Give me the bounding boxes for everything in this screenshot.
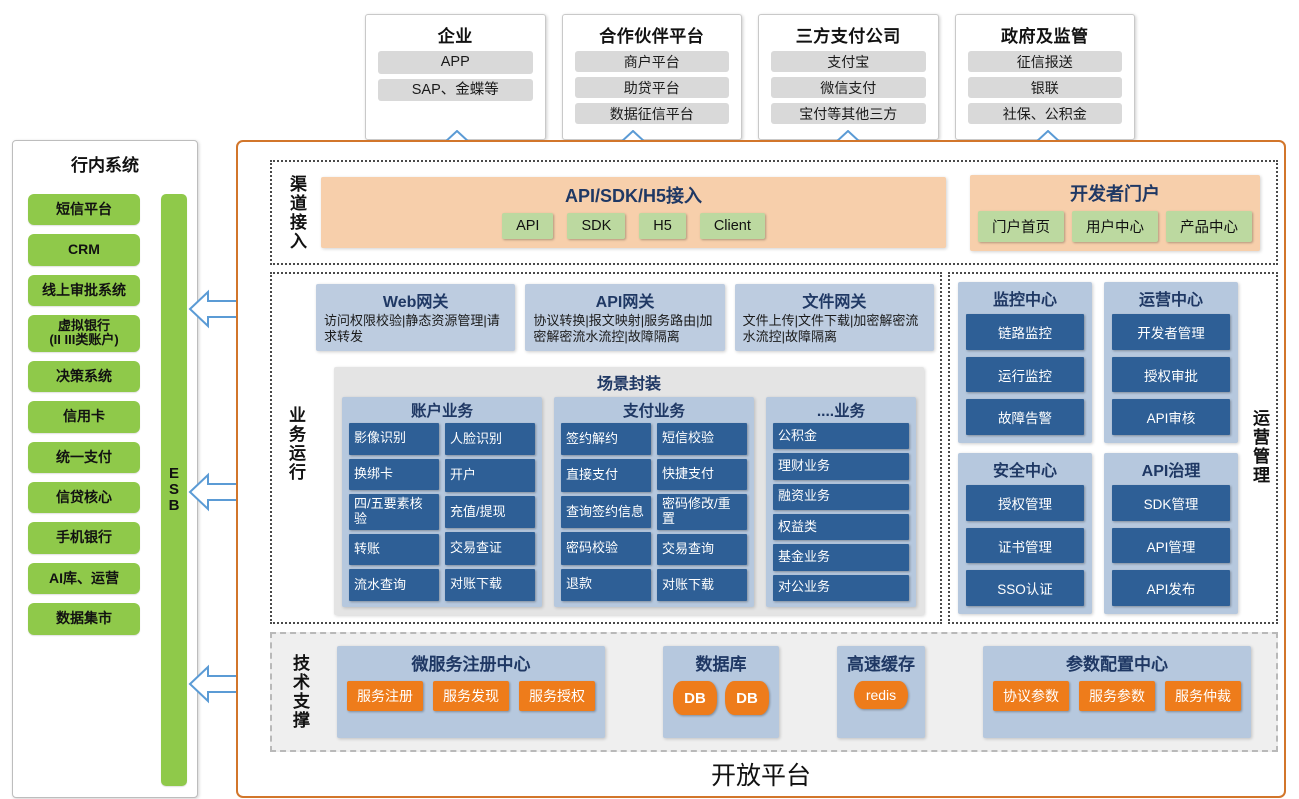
external-system-title: 企业 xyxy=(438,22,473,47)
business-chip[interactable]: 密码校验 xyxy=(561,532,651,564)
channel-chip[interactable]: Client xyxy=(700,213,765,239)
external-system-items: 征信报送银联社保、公积金 xyxy=(968,51,1123,124)
external-system-box: 政府及监管征信报送银联社保、公积金 xyxy=(955,14,1136,140)
internal-system-item[interactable]: 短信平台 xyxy=(28,194,140,225)
business-chip[interactable]: 人脸识别 xyxy=(445,423,535,455)
gateway-row: Web网关访问权限校验|静态资源管理|请求转发API网关协议转换|报文映射|服务… xyxy=(316,284,934,351)
operation-card-title: API治理 xyxy=(1112,457,1230,481)
business-column-title: ....业务 xyxy=(773,399,909,421)
technical-card-title: 微服务注册中心 xyxy=(412,650,531,675)
scene-encapsulation-title: 场景封装 xyxy=(342,370,916,394)
esb-letter: B xyxy=(169,498,180,514)
gateway-title: Web网关 xyxy=(383,288,449,312)
operation-chip[interactable]: 证书管理 xyxy=(966,528,1084,564)
external-system-box: 企业APPSAP、金蝶等 xyxy=(365,14,546,140)
external-system-title: 合作伙伴平台 xyxy=(599,22,704,47)
external-system-item[interactable]: 银联 xyxy=(968,77,1123,98)
business-chip[interactable]: 换绑卡 xyxy=(349,459,439,491)
business-column-grid: 影像识别换绑卡四/五要素核验转账流水查询人脸识别开户充值/提现交易查证对账下载 xyxy=(349,423,535,601)
business-chip[interactable]: 融资业务 xyxy=(773,484,909,510)
portal-chip[interactable]: 产品中心 xyxy=(1166,211,1252,242)
internal-systems-list: 短信平台CRM线上审批系统虚拟银行(II III类账户)决策系统信用卡统一支付信… xyxy=(28,194,140,635)
external-system-item[interactable]: 社保、公积金 xyxy=(968,103,1123,124)
technical-card: 参数配置中心协议参数服务参数服务仲裁 xyxy=(983,646,1251,738)
external-system-items: APPSAP、金蝶等 xyxy=(378,51,533,101)
external-system-item[interactable]: 微信支付 xyxy=(771,77,926,98)
operation-chip[interactable]: API管理 xyxy=(1112,528,1230,564)
business-run-band: 业务运行 Web网关访问权限校验|静态资源管理|请求转发API网关协议转换|报文… xyxy=(270,272,942,624)
business-chip[interactable]: 查询签约信息 xyxy=(561,496,651,528)
operation-cards-grid: 监控中心链路监控运行监控故障告警运营中心开发者管理授权审批API审核安全中心授权… xyxy=(958,282,1238,614)
internal-systems-panel: 行内系统 短信平台CRM线上审批系统虚拟银行(II III类账户)决策系统信用卡… xyxy=(12,140,198,798)
business-chip[interactable]: 密码修改/重置 xyxy=(657,494,747,530)
database-pill[interactable]: DB xyxy=(725,681,769,715)
gateway-title: API网关 xyxy=(596,288,655,312)
operation-card-title: 安全中心 xyxy=(966,457,1084,481)
platform-title: 开放平台 xyxy=(238,756,1284,792)
external-system-item[interactable]: 商户平台 xyxy=(575,51,730,72)
scene-encapsulation-card: 场景封装 账户业务影像识别换绑卡四/五要素核验转账流水查询人脸识别开户充值/提现… xyxy=(334,367,924,615)
business-chip[interactable]: 转账 xyxy=(349,534,439,566)
technical-chip[interactable]: 服务参数 xyxy=(1079,681,1155,711)
operation-management-label: 运营管理 xyxy=(1242,379,1272,514)
internal-systems-title: 行内系统 xyxy=(13,151,197,176)
business-chip[interactable]: 直接支付 xyxy=(561,459,651,491)
technical-card: 微服务注册中心服务注册服务发现服务授权 xyxy=(337,646,605,738)
business-column-grid: 签约解约直接支付查询签约信息密码校验退款短信校验快捷支付密码修改/重置交易查询对… xyxy=(561,423,747,601)
operation-card-items: SDK管理API管理API发布 xyxy=(1112,485,1230,606)
business-chip[interactable]: 对账下载 xyxy=(445,569,535,601)
external-system-item[interactable]: 数据征信平台 xyxy=(575,103,730,124)
api-sdk-h5-title: API/SDK/H5接入 xyxy=(565,182,702,208)
external-system-items: 支付宝微信支付宝付等其他三方 xyxy=(771,51,926,124)
business-column-title: 支付业务 xyxy=(561,399,747,421)
operation-chip[interactable]: 运行监控 xyxy=(966,357,1084,393)
channel-access-label: 渠道接入 xyxy=(277,175,309,251)
external-system-title: 政府及监管 xyxy=(1001,22,1089,47)
business-chip[interactable]: 公积金 xyxy=(773,423,909,449)
technical-card-items: redis xyxy=(854,681,908,709)
gateway-description: 文件上传|文件下载|加密解密流水流控|故障隔离 xyxy=(743,313,926,344)
operation-card-items: 链路监控运行监控故障告警 xyxy=(966,314,1084,435)
external-system-title: 三方支付公司 xyxy=(796,22,901,47)
business-subcolumn: 人脸识别开户充值/提现交易查证对账下载 xyxy=(445,423,535,601)
channel-chip[interactable]: API xyxy=(502,213,553,239)
internal-system-item[interactable]: 手机银行 xyxy=(28,522,140,553)
technical-support-label: 技术支撑 xyxy=(282,654,312,730)
business-chip[interactable]: 退款 xyxy=(561,569,651,601)
business-chip[interactable]: 对账下载 xyxy=(657,569,747,601)
gateway-card[interactable]: API网关协议转换|报文映射|服务路由|加密解密流水流控|故障隔离 xyxy=(525,284,724,351)
operation-card-items: 开发者管理授权审批API审核 xyxy=(1112,314,1230,435)
internal-system-item[interactable]: 决策系统 xyxy=(28,361,140,392)
operation-management-band: 监控中心链路监控运行监控故障告警运营中心开发者管理授权审批API审核安全中心授权… xyxy=(948,272,1278,624)
operation-chip[interactable]: API审核 xyxy=(1112,399,1230,435)
technical-card: 数据库DBDB xyxy=(663,646,779,738)
business-chip[interactable]: 充值/提现 xyxy=(445,496,535,528)
gateway-description: 访问权限校验|静态资源管理|请求转发 xyxy=(324,313,507,344)
business-subcolumn: 短信校验快捷支付密码修改/重置交易查询对账下载 xyxy=(657,423,747,601)
business-chip[interactable]: 流水查询 xyxy=(349,569,439,601)
external-system-item[interactable]: 宝付等其他三方 xyxy=(771,103,926,124)
technical-card-title: 高速缓存 xyxy=(847,650,915,675)
technical-support-band: 技术支撑 微服务注册中心服务注册服务发现服务授权数据库DBDB高速缓存redis… xyxy=(270,632,1278,752)
internal-system-item[interactable]: 信用卡 xyxy=(28,401,140,432)
operation-chip[interactable]: API发布 xyxy=(1112,570,1230,606)
external-system-item[interactable]: 助贷平台 xyxy=(575,77,730,98)
operation-card-title: 运营中心 xyxy=(1112,286,1230,310)
business-subcolumn: 签约解约直接支付查询签约信息密码校验退款 xyxy=(561,423,651,601)
business-run-label: 业务运行 xyxy=(278,369,308,519)
business-column: 账户业务影像识别换绑卡四/五要素核验转账流水查询人脸识别开户充值/提现交易查证对… xyxy=(342,397,542,607)
business-chip[interactable]: 影像识别 xyxy=(349,423,439,455)
business-column: 支付业务签约解约直接支付查询签约信息密码校验退款短信校验快捷支付密码修改/重置交… xyxy=(554,397,754,607)
business-chip[interactable]: 签约解约 xyxy=(561,423,651,455)
business-chip[interactable]: 短信校验 xyxy=(657,423,747,455)
business-chip[interactable]: 理财业务 xyxy=(773,453,909,479)
channel-access-band: 渠道接入 API/SDK/H5接入 APISDKH5Client 开发者门户 门… xyxy=(270,160,1278,265)
technical-card-items: 服务注册服务发现服务授权 xyxy=(347,681,595,711)
external-system-item[interactable]: APP xyxy=(378,51,533,74)
portal-chip[interactable]: 门户首页 xyxy=(978,211,1064,242)
business-chip[interactable]: 权益类 xyxy=(773,514,909,540)
business-chip[interactable]: 交易查询 xyxy=(657,534,747,566)
technical-card-items: 协议参数服务参数服务仲裁 xyxy=(993,681,1241,711)
developer-portal-title: 开发者门户 xyxy=(1070,180,1160,206)
external-system-box: 合作伙伴平台商户平台助贷平台数据征信平台 xyxy=(562,14,743,140)
operation-card-items: 授权管理证书管理SSO认证 xyxy=(966,485,1084,606)
redis-pill[interactable]: redis xyxy=(854,681,908,709)
database-pill[interactable]: DB xyxy=(673,681,717,715)
developer-portal-card: 开发者门户 门户首页用户中心产品中心 xyxy=(970,175,1260,251)
technical-chip[interactable]: 服务注册 xyxy=(347,681,423,711)
operation-card: 监控中心链路监控运行监控故障告警 xyxy=(958,282,1092,443)
internal-system-item[interactable]: 信贷核心 xyxy=(28,482,140,513)
channel-chip[interactable]: SDK xyxy=(567,213,625,239)
external-system-item[interactable]: 征信报送 xyxy=(968,51,1123,72)
external-system-items: 商户平台助贷平台数据征信平台 xyxy=(575,51,730,124)
operation-chip[interactable]: 链路监控 xyxy=(966,314,1084,350)
business-subcolumn: 影像识别换绑卡四/五要素核验转账流水查询 xyxy=(349,423,439,601)
technical-chip[interactable]: 服务发现 xyxy=(433,681,509,711)
developer-portal-chips: 门户首页用户中心产品中心 xyxy=(978,211,1252,242)
business-column-grid: 公积金理财业务融资业务权益类基金业务对公业务 xyxy=(773,423,909,601)
operation-chip[interactable]: 授权管理 xyxy=(966,485,1084,521)
operation-card: 运营中心开发者管理授权审批API审核 xyxy=(1104,282,1238,443)
operation-chip[interactable]: SSO认证 xyxy=(966,570,1084,606)
business-chip[interactable]: 开户 xyxy=(445,459,535,491)
esb-bus: ESB xyxy=(161,194,187,786)
technical-chip[interactable]: 协议参数 xyxy=(993,681,1069,711)
esb-letter: S xyxy=(169,482,179,498)
internal-system-item[interactable]: 虚拟银行(II III类账户) xyxy=(28,315,140,352)
business-column-title: 账户业务 xyxy=(349,399,535,421)
technical-card-title: 参数配置中心 xyxy=(1066,650,1168,675)
technical-card-items: DBDB xyxy=(673,681,769,715)
technical-card-title: 数据库 xyxy=(696,650,747,675)
operation-chip[interactable]: 故障告警 xyxy=(966,399,1084,435)
external-system-item[interactable]: SAP、金蝶等 xyxy=(378,79,533,102)
business-chip[interactable]: 交易查证 xyxy=(445,532,535,564)
gateway-card[interactable]: 文件网关文件上传|文件下载|加密解密流水流控|故障隔离 xyxy=(735,284,934,351)
business-columns: 账户业务影像识别换绑卡四/五要素核验转账流水查询人脸识别开户充值/提现交易查证对… xyxy=(342,397,916,607)
gateway-title: 文件网关 xyxy=(802,288,866,312)
operation-card-title: 监控中心 xyxy=(966,286,1084,310)
business-chip[interactable]: 基金业务 xyxy=(773,544,909,570)
api-sdk-h5-card: API/SDK/H5接入 APISDKH5Client xyxy=(321,177,946,248)
business-chip[interactable]: 对公业务 xyxy=(773,575,909,601)
business-chip[interactable]: 快捷支付 xyxy=(657,459,747,491)
technical-chip[interactable]: 服务仲裁 xyxy=(1165,681,1241,711)
external-systems-row: 企业APPSAP、金蝶等合作伙伴平台商户平台助贷平台数据征信平台三方支付公司支付… xyxy=(365,14,1135,140)
internal-system-item[interactable]: 统一支付 xyxy=(28,442,140,473)
external-system-item[interactable]: 支付宝 xyxy=(771,51,926,72)
operation-chip[interactable]: 授权审批 xyxy=(1112,357,1230,393)
technical-cards-row: 微服务注册中心服务注册服务发现服务授权数据库DBDB高速缓存redis参数配置中… xyxy=(320,646,1268,738)
gateway-description: 协议转换|报文映射|服务路由|加密解密流水流控|故障隔离 xyxy=(533,313,716,344)
operation-card: API治理SDK管理API管理API发布 xyxy=(1104,453,1238,614)
external-system-box: 三方支付公司支付宝微信支付宝付等其他三方 xyxy=(758,14,939,140)
internal-system-item[interactable]: 数据集市 xyxy=(28,603,140,634)
operation-chip[interactable]: SDK管理 xyxy=(1112,485,1230,521)
channel-chip[interactable]: H5 xyxy=(639,213,686,239)
internal-system-item[interactable]: CRM xyxy=(28,234,140,265)
business-chip[interactable]: 四/五要素核验 xyxy=(349,494,439,530)
portal-chip[interactable]: 用户中心 xyxy=(1072,211,1158,242)
technical-card: 高速缓存redis xyxy=(837,646,925,738)
internal-system-item[interactable]: AI库、运营 xyxy=(28,563,140,594)
internal-system-item[interactable]: 线上审批系统 xyxy=(28,275,140,306)
technical-chip[interactable]: 服务授权 xyxy=(519,681,595,711)
business-column: ....业务公积金理财业务融资业务权益类基金业务对公业务 xyxy=(766,397,916,607)
operation-chip[interactable]: 开发者管理 xyxy=(1112,314,1230,350)
gateway-card[interactable]: Web网关访问权限校验|静态资源管理|请求转发 xyxy=(316,284,515,351)
operation-card: 安全中心授权管理证书管理SSO认证 xyxy=(958,453,1092,614)
business-subcolumn: 公积金理财业务融资业务权益类基金业务对公业务 xyxy=(773,423,909,601)
api-sdk-h5-chips: APISDKH5Client xyxy=(502,213,765,239)
esb-letter: E xyxy=(169,466,179,482)
